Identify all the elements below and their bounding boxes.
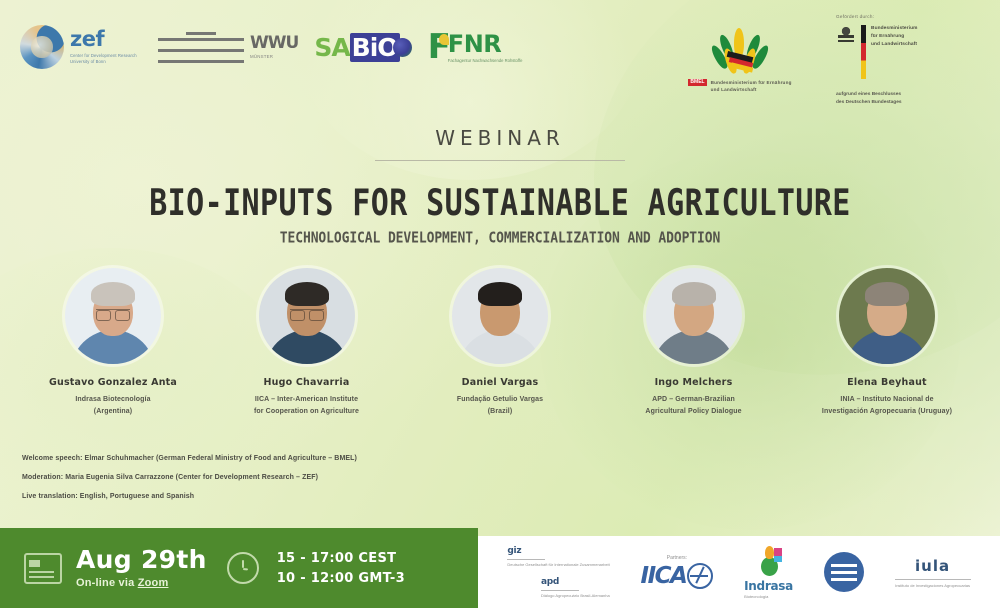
globe-icon [687, 563, 713, 589]
apd-logo: apd Diálogo Agropecuário Brasil-Alemanha [541, 577, 610, 599]
indrasa-logo: Indrasa Biotecnología [744, 546, 793, 599]
indrasa-subtitle: Biotecnología [744, 595, 793, 599]
avatar [839, 268, 935, 364]
wwu-logo-subtitle: MÜNSTER [250, 55, 298, 59]
speaker-org-line1: Fundação Getulio Vargas [410, 394, 590, 406]
bmel-line1: Bundesministerium für Ernährung [711, 79, 792, 86]
speaker-org-line1: Indrasa Biotecnología [23, 394, 203, 406]
zef-logo: zef Center for Development Research Univ… [20, 25, 142, 69]
wwu-munster-logo: WWU MÜNSTER [158, 32, 298, 63]
fnr-logo-wordmark: FNR [448, 32, 523, 56]
speaker-org-line2: (Brazil) [410, 406, 590, 418]
page-title: BIO-INPUTS FOR SUSTAINABLE AGRICULTURE [0, 182, 1000, 225]
speaker-name: Daniel Vargas [462, 377, 539, 388]
note-moderation: Moderation: Maria Eugenia Silva Carrazzo… [22, 474, 642, 481]
speaker-card: Hugo Chavarria IICA – Inter-American Ins… [212, 268, 402, 419]
zoom-link[interactable]: Zoom [138, 577, 169, 589]
iula-wordmark: iula [915, 557, 950, 575]
sabio-logo-part1: SA [314, 33, 349, 62]
speaker-card: Daniel Vargas Fundação Getulio Vargas (B… [405, 268, 595, 419]
eyebrow-label: WEBINAR [0, 126, 1000, 150]
zef-logo-wordmark: zef [70, 29, 142, 50]
speaker-org-line2: Investigación Agropecuaria (Uruguay) [797, 406, 977, 418]
avatar [65, 268, 161, 364]
giz-logo: giz Deutsche Gesellschaft für Internatio… [507, 546, 609, 568]
ministry-line1: Bundesministerium [871, 25, 917, 33]
wwu-emblem-icon [158, 32, 244, 63]
circle-emblem-icon [824, 552, 864, 592]
zef-logo-subtitle: Center for Development Research Universi… [70, 53, 142, 66]
bundestag-line1: aufgrund eines Beschlusses [836, 91, 978, 99]
calendar-icon [24, 553, 62, 584]
partner-footer-bar: giz Deutsche Gesellschaft für Internatio… [478, 536, 1000, 608]
speaker-list: Gustavo Gonzalez Anta Indrasa Biotecnolo… [18, 268, 982, 419]
speaker-name: Gustavo Gonzalez Anta [49, 377, 177, 388]
event-details-bar: Aug 29th On-line via Zoom 15 - 17:00 CES… [0, 528, 478, 608]
speaker-org-line1: INIA – Instituto Nacional de [797, 394, 977, 406]
note-translation: Live translation: English, Portuguese an… [22, 493, 642, 500]
ministry-line3: und Landwirtschaft [871, 41, 917, 49]
fnr-logo: F FNR Fachagentur Nachwachsende Rohstoff… [428, 32, 523, 63]
indrasa-drop-icon [758, 546, 780, 576]
avatar [646, 268, 742, 364]
ministry-line2: für Ernährung [871, 33, 917, 41]
bmel-crest-icon [709, 28, 771, 76]
apd-subtitle: Diálogo Agropecuário Brasil-Alemanha [541, 593, 610, 599]
note-welcome-speech: Welcome speech: Elmar Schuhmacher (Germa… [22, 455, 642, 462]
german-flag-icon [861, 25, 866, 79]
partner-logo-bar: zef Center for Development Research Univ… [20, 14, 522, 80]
indrasa-wordmark: Indrasa [744, 580, 793, 592]
divider [507, 559, 545, 560]
speaker-org-line2: (Argentina) [23, 406, 203, 418]
event-mode-prefix: On-line via [76, 577, 138, 589]
zef-emblem-icon [20, 25, 64, 69]
fnr-logo-subtitle: Fachagentur Nachwachsende Rohstoffe [448, 58, 523, 63]
embrapa-circle-logo [824, 552, 864, 592]
avatar [259, 268, 355, 364]
webinar-poster: zef Center for Development Research Univ… [0, 0, 1000, 608]
speaker-card: Elena Beyhaut INIA – Instituto Nacional … [792, 268, 982, 419]
german-federal-ministry-logo: Gefördert durch: Bundesministerium für E… [836, 14, 978, 106]
speaker-name: Elena Beyhaut [847, 377, 927, 388]
speaker-org-line2: for Cooperation on Agriculture [217, 406, 397, 418]
speaker-name: Hugo Chavarria [264, 377, 350, 388]
speaker-org-line1: APD – German-Brazilian [604, 394, 784, 406]
event-date: Aug 29th [76, 547, 207, 572]
fnr-leaf-icon: F [428, 32, 451, 63]
speaker-card: Gustavo Gonzalez Anta Indrasa Biotecnolo… [18, 268, 208, 419]
bmel-crest-logo: BMEL Bundesministerium für Ernährung und… [640, 28, 840, 93]
giz-logos: giz Deutsche Gesellschaft für Internatio… [507, 546, 609, 598]
iula-logo: iula Instituto de Investigaciones Agrope… [895, 557, 971, 588]
speaker-org-line2: Agricultural Policy Dialogue [604, 406, 784, 418]
funding-note: Gefördert durch: [836, 14, 978, 19]
iica-logo: Partners: IICA [641, 555, 714, 589]
speaker-org-line1: IICA – Inter-American Institute [217, 394, 397, 406]
event-mode: On-line via Zoom [76, 578, 207, 589]
page-subtitle: TECHNOLOGICAL DEVELOPMENT, COMMERCIALIZA… [0, 230, 1000, 247]
giz-wordmark: giz [507, 546, 521, 556]
event-time-cest: 15 - 17:00 CEST [277, 552, 405, 565]
bundestag-line2: des Deutschen Bundestages [836, 99, 978, 107]
sabio-logo: SABiO [314, 33, 411, 62]
iula-subtitle: Instituto de Investigaciones Agropecuari… [895, 583, 970, 588]
event-notes: Welcome speech: Elmar Schuhmacher (Germa… [22, 455, 642, 512]
sabio-globe-icon [393, 38, 412, 57]
speaker-name: Ingo Melchers [655, 377, 733, 388]
avatar [452, 268, 548, 364]
divider [541, 590, 579, 591]
event-time-gmt3: 10 - 12:00 GMT-3 [277, 572, 405, 585]
bmel-line2: und Landwirtschaft [711, 86, 792, 93]
clock-icon [227, 552, 259, 584]
divider [895, 579, 971, 580]
partners-caption: Partners: [667, 555, 687, 561]
speaker-card: Ingo Melchers APD – German-Brazilian Agr… [599, 268, 789, 419]
giz-subtitle: Deutsche Gesellschaft für Internationale… [507, 562, 609, 568]
apd-wordmark: apd [541, 577, 559, 587]
title-divider [375, 160, 625, 161]
wwu-logo-wordmark: WWU [250, 35, 298, 52]
bmel-tag: BMEL [688, 79, 706, 86]
federal-eagle-icon [836, 25, 856, 47]
iica-wordmark: IICA [641, 563, 687, 589]
